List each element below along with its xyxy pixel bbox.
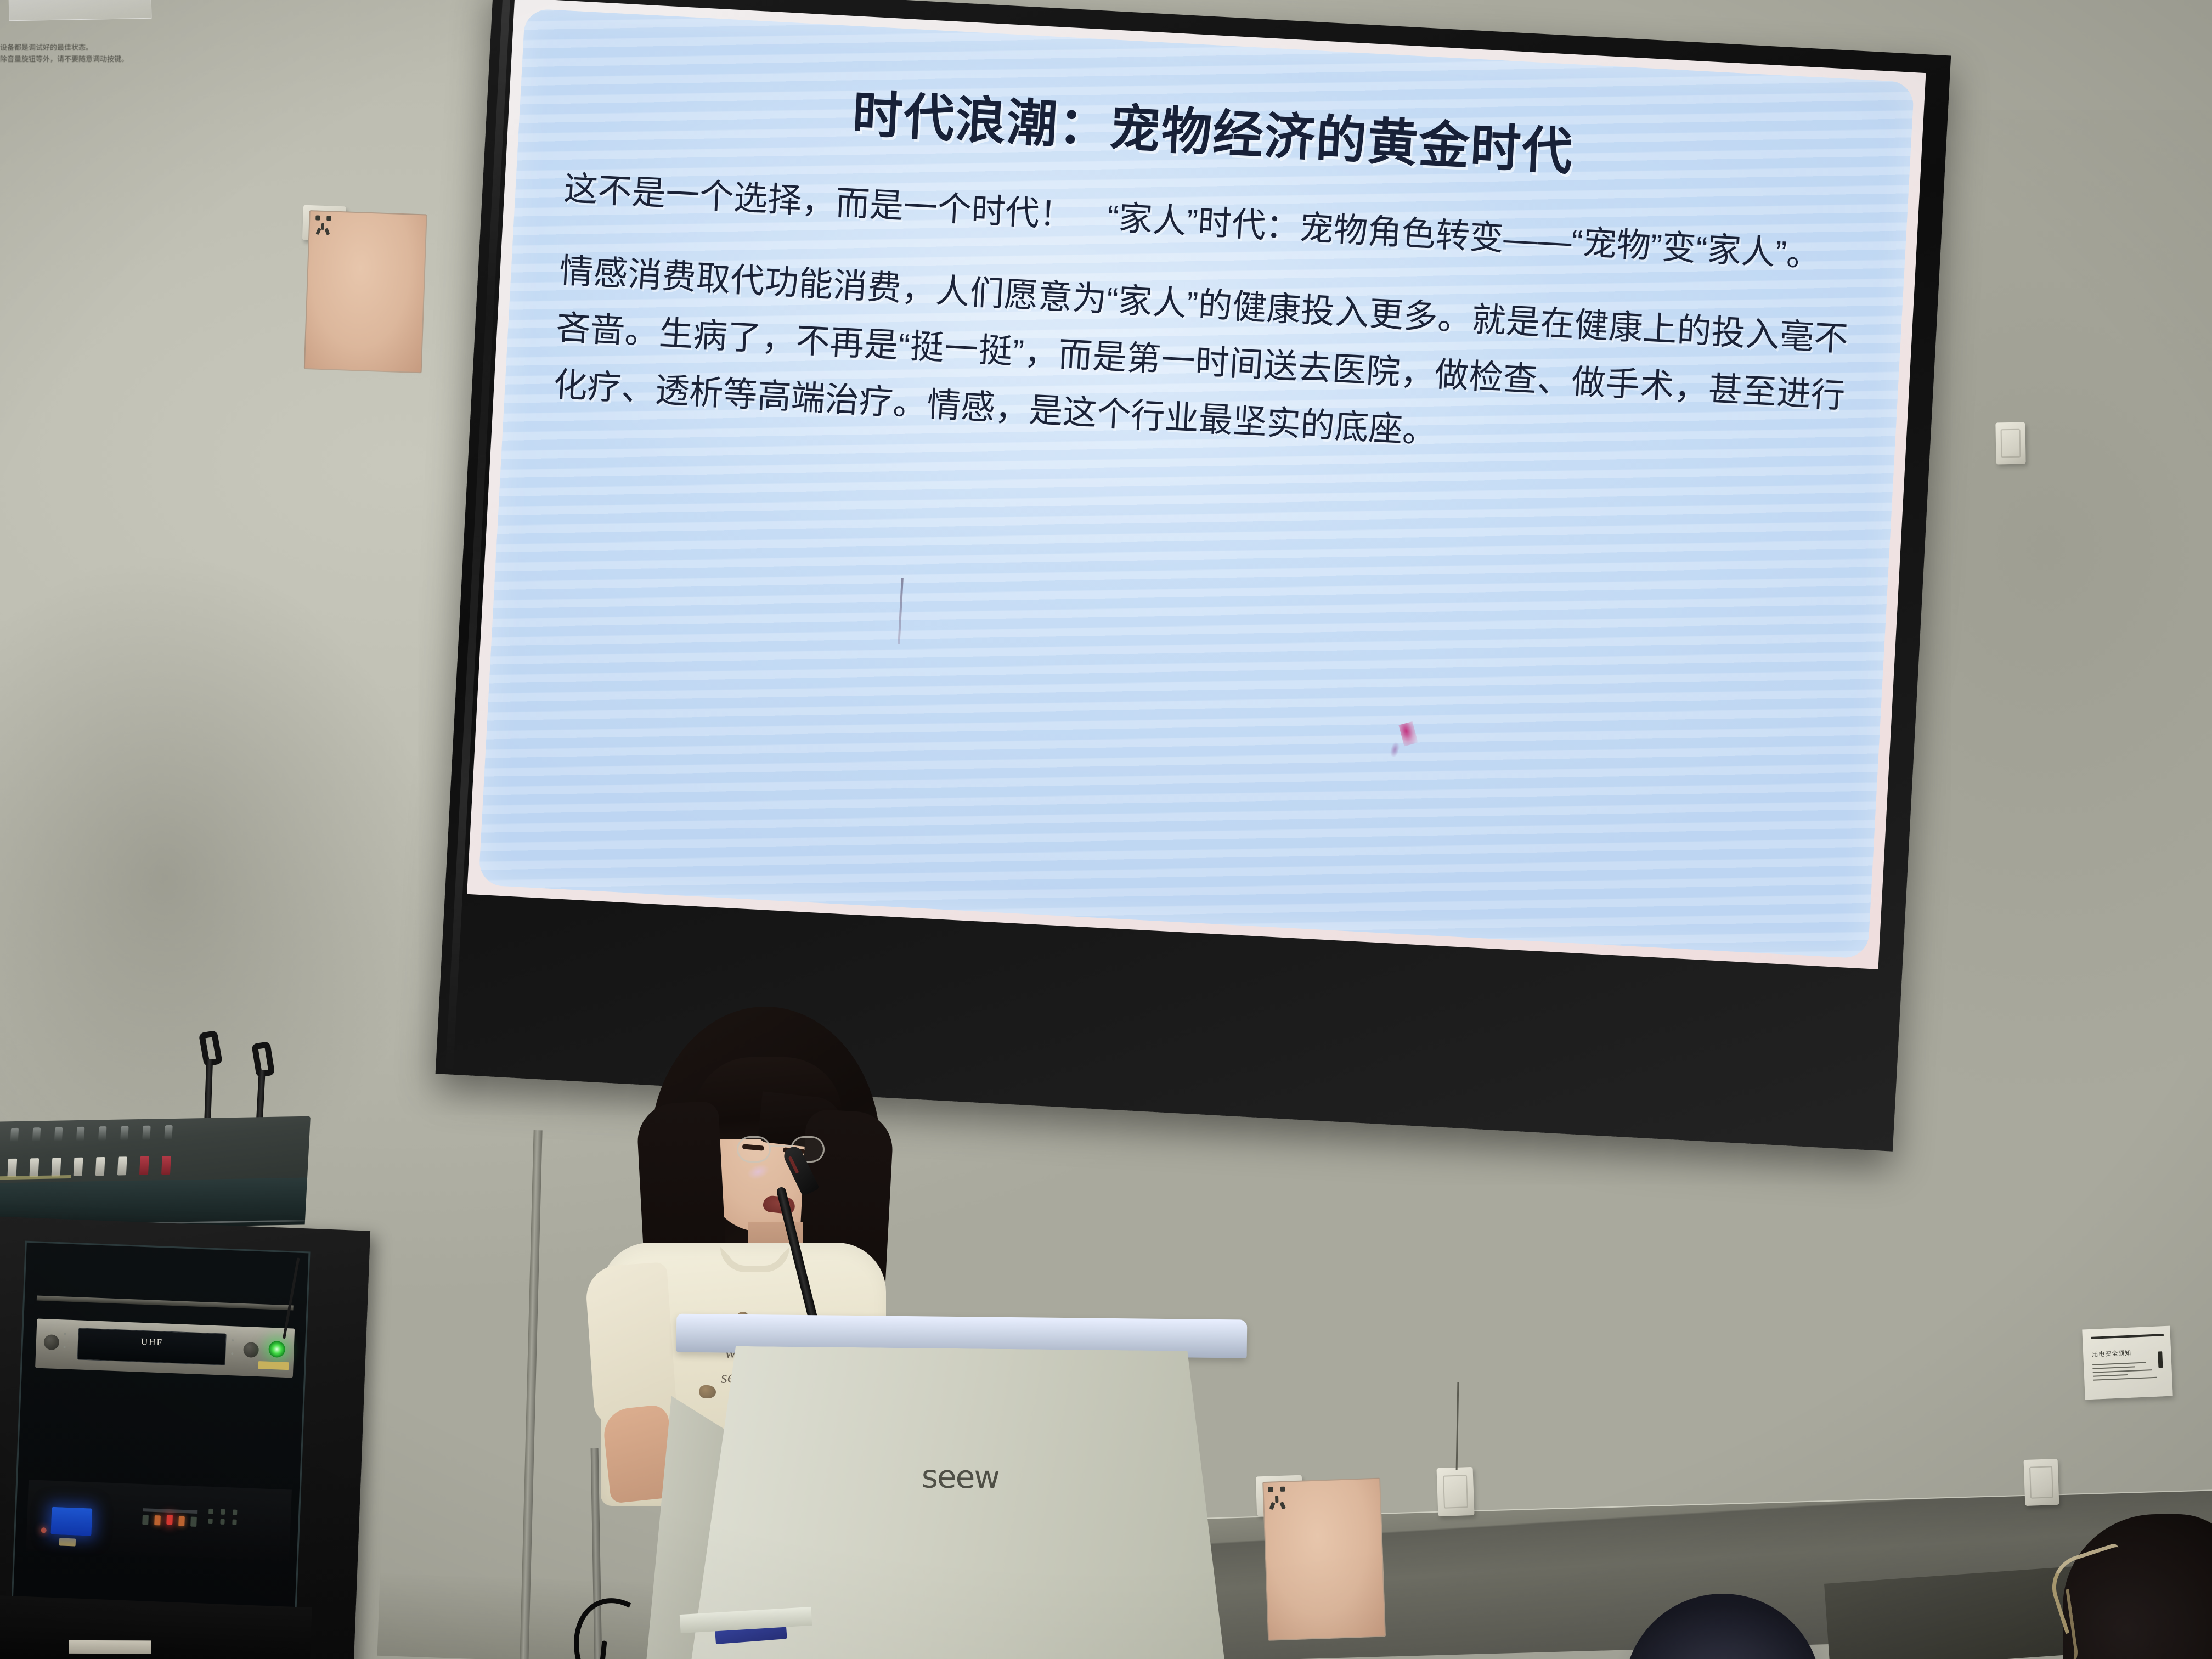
- eyeglasses: [737, 1136, 825, 1165]
- power-socket[interactable]: [1256, 1475, 1303, 1516]
- microphone-clip[interactable]: [199, 1031, 218, 1125]
- receiver-sticker: [258, 1361, 289, 1370]
- status-led-icon: [166, 1515, 173, 1525]
- presentation-slide[interactable]: 时代浪潮：宠物经济的黄金时代 这不是一个选择，而是一个时代！ “家人”时代：宠物…: [478, 8, 1915, 959]
- receiver-knob[interactable]: [243, 1342, 259, 1358]
- blank-wall-plate: [2024, 1459, 2059, 1506]
- lectern[interactable]: seew: [651, 1313, 1264, 1659]
- status-led-icon: [41, 1527, 47, 1533]
- sign-subtitle-line-2: 除音量旋钮等外，请不要随意调动按键。: [0, 54, 2212, 65]
- mixer-surface[interactable]: [0, 1116, 311, 1188]
- mixer-label-strip: [0, 1175, 71, 1180]
- audio-mixer[interactable]: [0, 1116, 311, 1232]
- wireless-receiver-unit[interactable]: UHF: [35, 1319, 295, 1378]
- pink-pen-mark-secondary-icon: [1389, 742, 1400, 758]
- notice-latch-icon: [2158, 1351, 2163, 1368]
- status-led-icon: [178, 1516, 185, 1526]
- power-led-icon: [268, 1341, 285, 1358]
- stacked-papers: [69, 1640, 151, 1654]
- status-led-icon: [142, 1515, 149, 1525]
- lecture-hall-photo: 时代浪潮：宠物经济的黄金时代 这不是一个选择，而是一个时代！ “家人”时代：宠物…: [0, 0, 2212, 1659]
- status-led-icon: [221, 1509, 225, 1515]
- sign-tape: [9, 0, 152, 21]
- status-led-icon: [232, 1519, 236, 1525]
- rack-glass-door[interactable]: UHF: [10, 1241, 310, 1644]
- status-led-icon: [190, 1517, 197, 1527]
- slide-border: 时代浪潮：宠物经济的黄金时代 这不是一个选择，而是一个时代！ “家人”时代：宠物…: [467, 0, 1926, 969]
- sign-subtitle-line-1: 设备都是调试好的最佳状态。: [0, 42, 2212, 54]
- amplifier-sticker: [59, 1538, 76, 1546]
- amplifier-button-strip[interactable]: [143, 1508, 198, 1514]
- amplifier-display: [50, 1507, 92, 1536]
- status-led-icon: [208, 1519, 212, 1524]
- amplifier-unit[interactable]: [26, 1480, 292, 1561]
- lectern-brand-logo: seew: [921, 1458, 999, 1496]
- notice-top-bar: [2091, 1334, 2164, 1339]
- pink-pen-mark-icon: [1398, 721, 1418, 746]
- equipment-rack[interactable]: UHF: [0, 1216, 370, 1659]
- slide-paragraph-2: 情感消费取代功能消费，人们愿意为“家人”的健康投入更多。就是在健康上的投入毫不吝…: [552, 242, 1849, 482]
- blank-wall-plate: [1436, 1467, 1474, 1516]
- status-led-icon: [233, 1509, 237, 1515]
- receiver-knob[interactable]: [43, 1334, 59, 1350]
- blank-wall-plate: [1995, 422, 2025, 465]
- power-socket[interactable]: [302, 205, 346, 242]
- rack-shelf: [37, 1295, 294, 1310]
- mixer-knob-row[interactable]: [0, 1125, 173, 1143]
- projection-screen[interactable]: 时代浪潮：宠物经济的黄金时代 这不是一个选择，而是一个时代！ “家人”时代：宠物…: [436, 0, 1951, 1152]
- status-led-icon: [220, 1519, 224, 1525]
- rack-cable: [283, 1257, 300, 1339]
- status-led-icon: [208, 1509, 213, 1514]
- notice-title: 用电安全须知: [2092, 1347, 2165, 1359]
- status-led-icon: [154, 1515, 161, 1525]
- slide-cursor-artifact: [898, 578, 904, 644]
- mixer-fader-row[interactable]: [0, 1156, 171, 1178]
- wall-notice-plate: 用电安全须知: [2082, 1326, 2172, 1400]
- receiver-display: UHF: [77, 1328, 227, 1365]
